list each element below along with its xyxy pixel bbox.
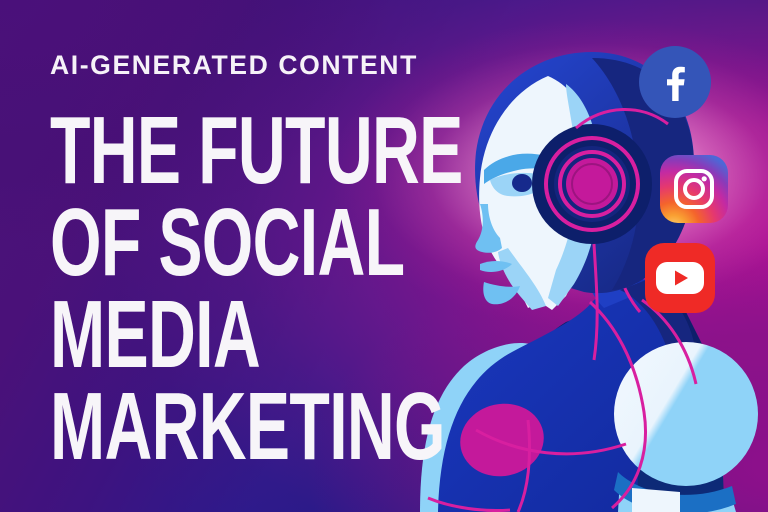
eyebrow-label: AI-GENERATED CONTENT xyxy=(50,52,464,79)
instagram-glyph xyxy=(671,166,717,212)
instagram-icon[interactable] xyxy=(660,155,728,223)
youtube-glyph xyxy=(655,260,705,296)
page-title: THE FUTURE OF SOCIAL MEDIA MARKETING xyxy=(50,105,470,473)
headline-line-4: MARKETING xyxy=(50,381,340,473)
youtube-icon[interactable] xyxy=(645,243,715,313)
ear-headphone xyxy=(532,124,652,244)
facebook-icon[interactable] xyxy=(639,46,711,118)
text-block: AI-GENERATED CONTENT THE FUTURE OF SOCIA… xyxy=(50,52,470,473)
headline-line-2: OF SOCIAL xyxy=(50,197,340,289)
arm-highlight xyxy=(632,488,680,512)
headline-line-3: MEDIA xyxy=(50,289,340,381)
shoulder-right-ball xyxy=(614,342,758,486)
poster-canvas: AI-GENERATED CONTENT THE FUTURE OF SOCIA… xyxy=(0,0,768,512)
eye-iris xyxy=(512,174,532,192)
headline-line-1: THE FUTURE xyxy=(50,105,340,197)
facebook-glyph xyxy=(655,62,695,102)
